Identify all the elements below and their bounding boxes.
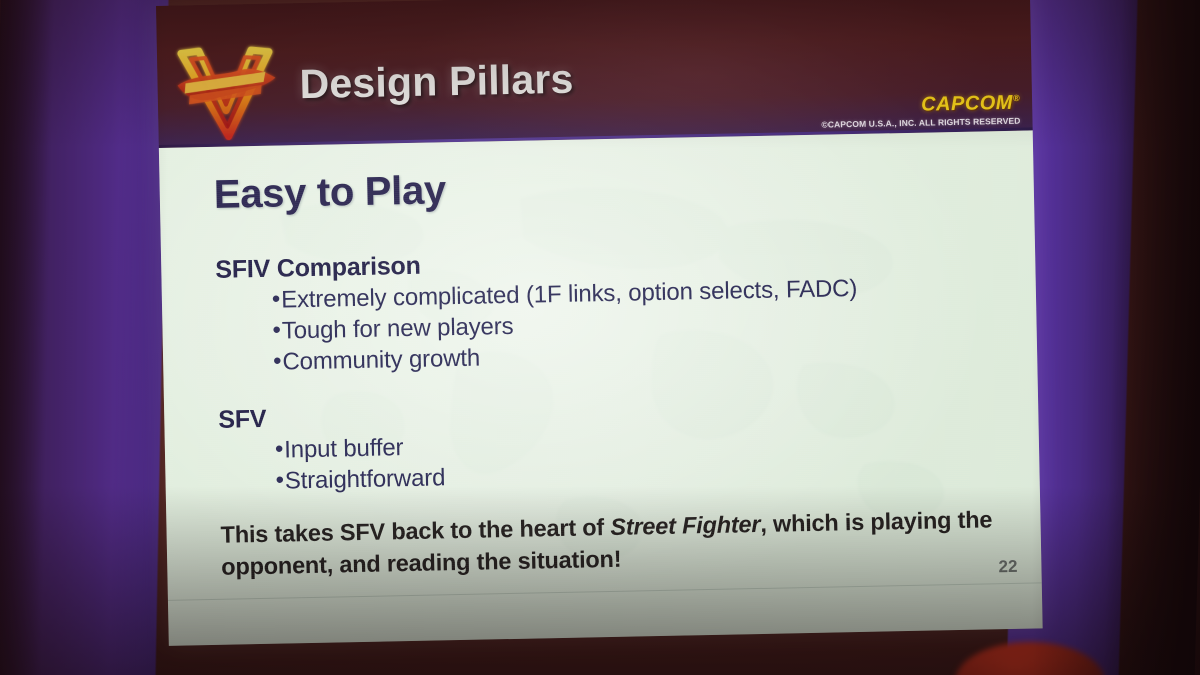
capcom-wordmark: CAPCOM® [821, 92, 1020, 116]
street-fighter-v-logo [165, 31, 287, 141]
bullet-list-sfiv: •Extremely complicated (1F links, option… [216, 270, 1038, 379]
capcom-branding: CAPCOM® ©CAPCOM U.S.A., INC. ALL RIGHTS … [821, 92, 1021, 128]
bullet-dot-icon: • [275, 468, 284, 492]
closing-statement: This takes SFV back to the heart of Stre… [220, 503, 1021, 584]
bullet-dot-icon: • [272, 288, 281, 312]
page-number: 22 [998, 557, 1017, 577]
registered-mark-icon: ® [1013, 93, 1020, 103]
slide-content: Easy to Play SFIV Comparison •Extremely … [159, 130, 1043, 645]
closing-before: This takes SFV back to the heart of [220, 514, 610, 548]
capcom-word-text: CAPCOM [921, 91, 1013, 115]
bullet-text: Input buffer [284, 434, 404, 463]
slide-header: Design Pillars CAPCOM® ©CAPCOM U.S.A., I… [156, 0, 1033, 148]
projected-slide: Design Pillars CAPCOM® ©CAPCOM U.S.A., I… [156, 0, 1043, 646]
bullet-text: Community growth [282, 344, 480, 375]
bullet-text: Tough for new players [282, 313, 514, 345]
slide-title: Design Pillars [299, 56, 574, 108]
closing-emphasis: Street Fighter [610, 511, 760, 540]
bullet-text: Straightforward [285, 464, 446, 494]
slide-body: Easy to Play SFIV Comparison •Extremely … [159, 130, 1043, 645]
bullet-dot-icon: • [275, 437, 284, 461]
bullet-dot-icon: • [273, 349, 282, 373]
slide-headline: Easy to Play [213, 156, 1034, 217]
screenshot-root: Design Pillars CAPCOM® ©CAPCOM U.S.A., I… [0, 0, 1200, 675]
bullet-dot-icon: • [272, 319, 281, 343]
